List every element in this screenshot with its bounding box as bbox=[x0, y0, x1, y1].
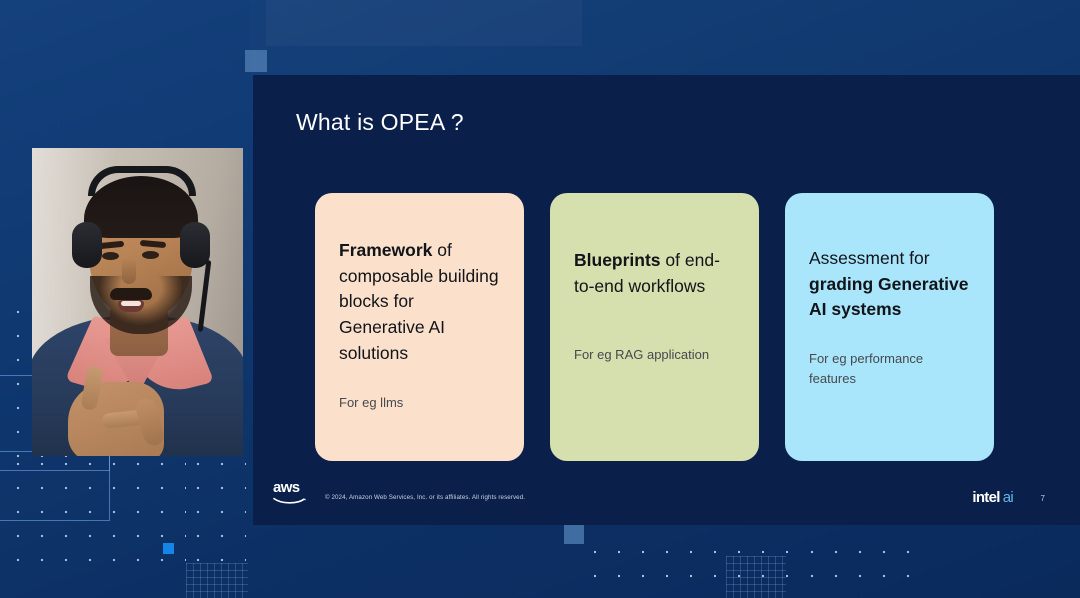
aws-wordmark: aws bbox=[273, 481, 307, 495]
card-blueprints-subtext: For eg RAG application bbox=[574, 345, 737, 365]
intel-ai-logo: intelai bbox=[972, 489, 1013, 506]
aws-logo-icon: aws bbox=[273, 481, 307, 505]
webinar-stage: What is OPEA ? Framework of composable b… bbox=[0, 0, 1080, 598]
card-assessment-bold-tail: grading Generative AI systems bbox=[809, 274, 969, 320]
presenter-nose bbox=[122, 258, 136, 284]
copyright-notice: © 2024, Amazon Web Services, Inc. or its… bbox=[325, 494, 525, 501]
card-framework-headline: Framework of composable building blocks … bbox=[339, 238, 502, 367]
card-assessment-lead: Assessment for bbox=[809, 248, 930, 268]
decor-accent-square-left bbox=[163, 543, 174, 554]
presentation-slide: What is OPEA ? Framework of composable b… bbox=[253, 75, 1080, 525]
presenter-video-tile[interactable] bbox=[32, 148, 243, 456]
decor-mesh-bottom-left bbox=[186, 563, 248, 598]
decor-dots-bottom-right bbox=[800, 540, 920, 598]
concept-card-blueprints: Blueprints of end-to-end workflows For e… bbox=[550, 193, 759, 461]
headphone-band-icon bbox=[88, 166, 196, 196]
decor-outline-rect-lower bbox=[0, 451, 110, 521]
card-assessment-subtext: For eg performance features bbox=[809, 349, 972, 388]
slide-page-number: 7 bbox=[1041, 494, 1045, 503]
aws-smile-icon bbox=[273, 496, 307, 505]
concept-card-assessment: Assessment for grading Generative AI sys… bbox=[785, 193, 994, 461]
card-blueprints-bold-lead: Blueprints bbox=[574, 250, 661, 270]
headphone-earcup-left-icon bbox=[72, 222, 102, 268]
intel-wordmark: intel bbox=[972, 489, 999, 506]
presenter-eye-left bbox=[102, 252, 119, 260]
presenter-mouth bbox=[118, 300, 144, 312]
slide-title: What is OPEA ? bbox=[296, 109, 464, 136]
card-framework-subtext: For eg llms bbox=[339, 393, 502, 413]
presenter-eye-right bbox=[142, 251, 159, 259]
intel-ai-suffix: ai bbox=[1003, 489, 1013, 506]
card-blueprints-headline: Blueprints of end-to-end workflows bbox=[574, 248, 737, 299]
decor-dots-bottom-center bbox=[583, 540, 799, 598]
card-assessment-headline: Assessment for grading Generative AI sys… bbox=[809, 246, 972, 323]
card-framework-bold-lead: Framework bbox=[339, 240, 432, 260]
concept-card-row: Framework of composable building blocks … bbox=[315, 193, 994, 461]
background-band-top bbox=[266, 0, 582, 46]
presenter-moustache bbox=[110, 288, 152, 300]
decor-square-top-left bbox=[245, 50, 267, 72]
concept-card-framework: Framework of composable building blocks … bbox=[315, 193, 524, 461]
decor-square-bottom-center bbox=[564, 524, 584, 544]
